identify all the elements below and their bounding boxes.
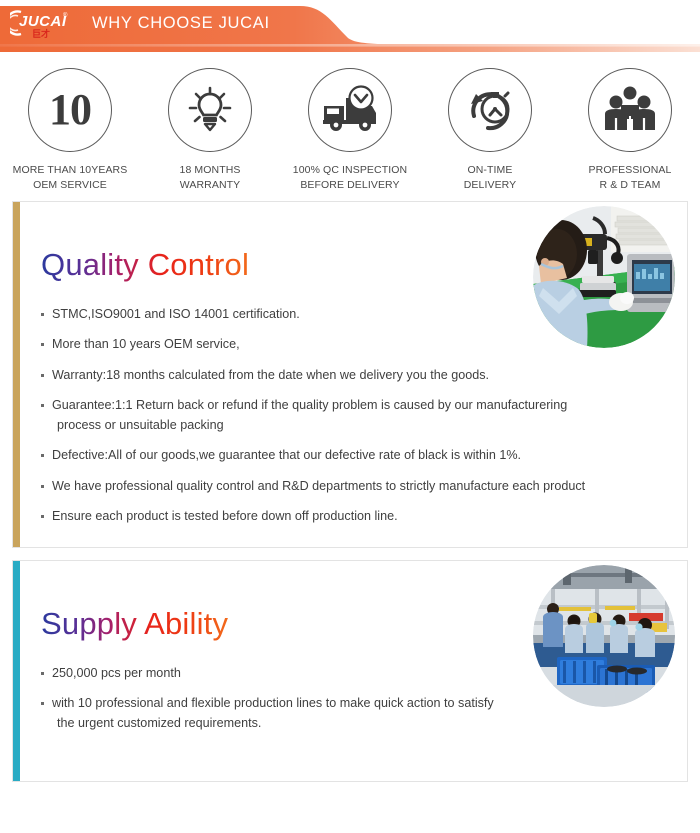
header-content: JUCAI ® 巨才 WHY CHOOSE JUCAI (0, 0, 270, 46)
list-item: Defective:All of our goods,we guarantee … (41, 446, 688, 477)
ten-years-number: 10 (49, 88, 91, 132)
feature-item-warranty: 18 MONTHS WARRANTY (140, 68, 280, 193)
feature-item-rd-team: PROFESSIONAL R & D TEAM (560, 68, 700, 193)
ten-years-icon: 10 (28, 68, 112, 152)
supply-ability-card: Supply Ability 250,000 pcs per month wit… (12, 560, 688, 782)
bullet-text: Guarantee:1:1 Return back or refund if t… (52, 398, 567, 412)
supply-ability-title: Supply Ability (41, 607, 228, 641)
stopwatch-icon (448, 68, 532, 152)
production-line-photo (533, 565, 675, 707)
feature-icon-row: 10 MORE THAN 10YEARS OEM SERVICE 1 (0, 52, 700, 201)
bullet-text: with 10 professional and flexible produc… (52, 696, 494, 710)
bullet-text-continued: the urgent customized requirements. (52, 714, 681, 734)
bullet-text: Warranty:18 months calculated from the d… (52, 368, 489, 382)
bullet-text: 250,000 pcs per month (52, 666, 181, 680)
bullet-text: We have professional quality control and… (52, 479, 585, 493)
quality-inspection-photo (533, 206, 675, 348)
bullet-text-continued: process or unsuitable packing (52, 416, 688, 436)
header-title: WHY CHOOSE JUCAI (92, 14, 270, 33)
page-header: JUCAI ® 巨才 WHY CHOOSE JUCAI (0, 0, 700, 52)
svg-text:巨才: 巨才 (32, 28, 50, 39)
jucai-logo: JUCAI ® 巨才 (10, 7, 72, 39)
quality-control-card: Quality Control STMC,ISO9001 and ISO 140… (12, 201, 688, 548)
feature-item-on-time-delivery: ON-TIME DELIVERY (420, 68, 560, 193)
team-people-icon (588, 68, 672, 152)
bullet-text: More than 10 years OEM service, (52, 337, 240, 351)
feature-item-oem-service: 10 MORE THAN 10YEARS OEM SERVICE (0, 68, 140, 193)
feature-label: PROFESSIONAL R & D TEAM (589, 163, 672, 193)
bullet-text: STMC,ISO9001 and ISO 14001 certification… (52, 307, 300, 321)
svg-text:®: ® (63, 12, 68, 19)
feature-label: ON-TIME DELIVERY (464, 163, 517, 193)
svg-text:JUCAI: JUCAI (19, 13, 67, 30)
feature-label: 100% QC INSPECTION BEFORE DELIVERY (293, 163, 407, 193)
truck-clock-icon (308, 68, 392, 152)
feature-item-qc-inspection: 100% QC INSPECTION BEFORE DELIVERY (280, 68, 420, 193)
feature-label: MORE THAN 10YEARS OEM SERVICE (13, 163, 128, 193)
feature-label: 18 MONTHS WARRANTY (180, 163, 241, 193)
list-item: Warranty:18 months calculated from the d… (41, 366, 688, 397)
list-item: Ensure each product is tested before dow… (41, 507, 688, 538)
bullet-text: Ensure each product is tested before dow… (52, 509, 398, 523)
quality-control-title: Quality Control (41, 248, 249, 282)
list-item: We have professional quality control and… (41, 477, 688, 508)
bullet-text: Defective:All of our goods,we guarantee … (52, 448, 521, 462)
lightbulb-icon (168, 68, 252, 152)
list-item: Guarantee:1:1 Return back or refund if t… (41, 396, 688, 446)
